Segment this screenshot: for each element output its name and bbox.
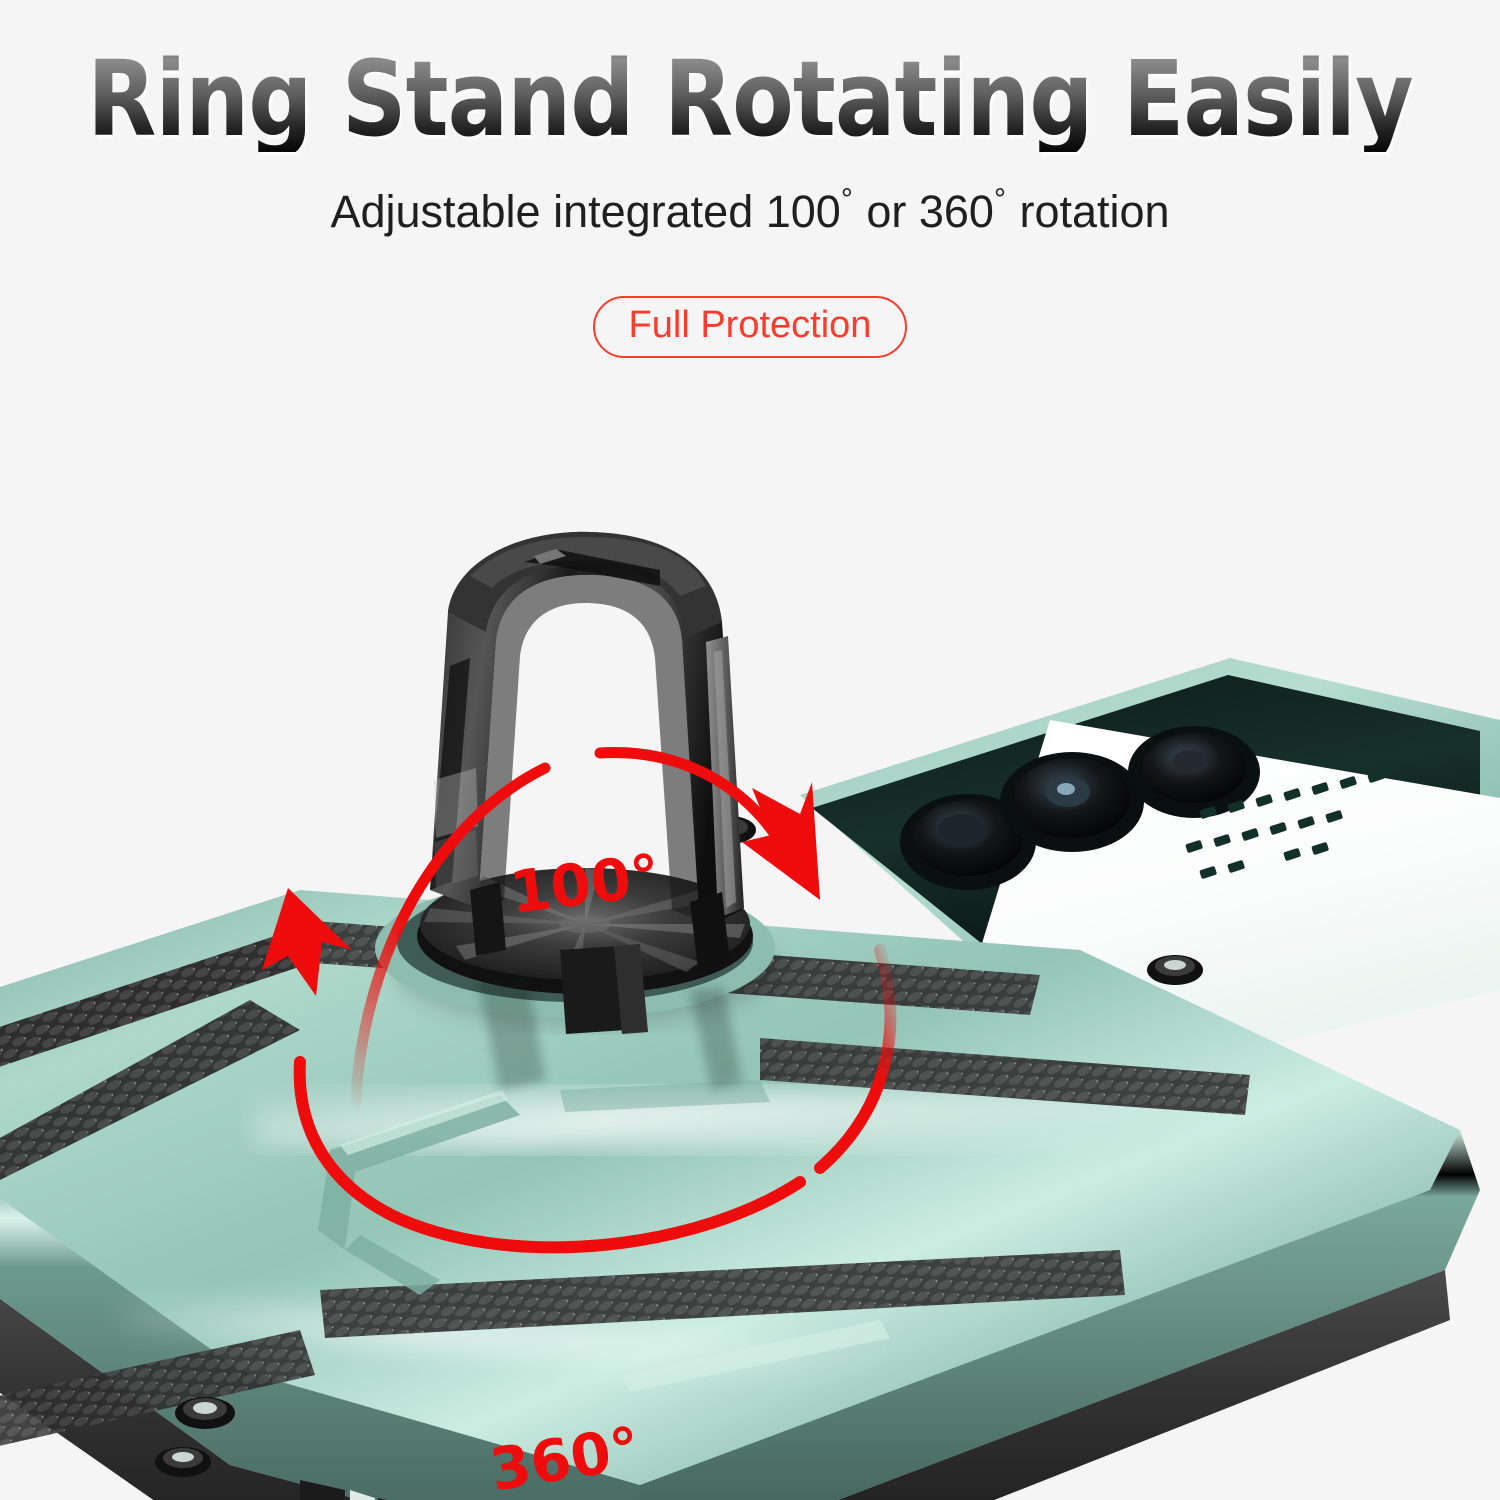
degree-symbol-icon: ° (994, 183, 1006, 216)
degree-symbol-icon: ° (841, 183, 853, 216)
subtitle-angle-100: 100 (766, 186, 841, 237)
subtitle-middle: or 360 (866, 186, 994, 237)
product-marketing-image: Ring Stand Rotating Easily Adjustable in… (0, 0, 1500, 1500)
subtitle-prefix: Adjustable integrated (330, 186, 765, 237)
page-subtitle: Adjustable integrated 100°or 360°rotatio… (0, 183, 1500, 238)
badge-container: Full Protection (0, 296, 1500, 358)
page-title: Ring Stand Rotating Easily (30, 46, 1470, 152)
status-badge: Full Protection (593, 296, 908, 358)
subtitle-suffix: rotation (1019, 186, 1169, 237)
product-illustration (0, 390, 1500, 1500)
ring-stand (375, 532, 775, 1034)
